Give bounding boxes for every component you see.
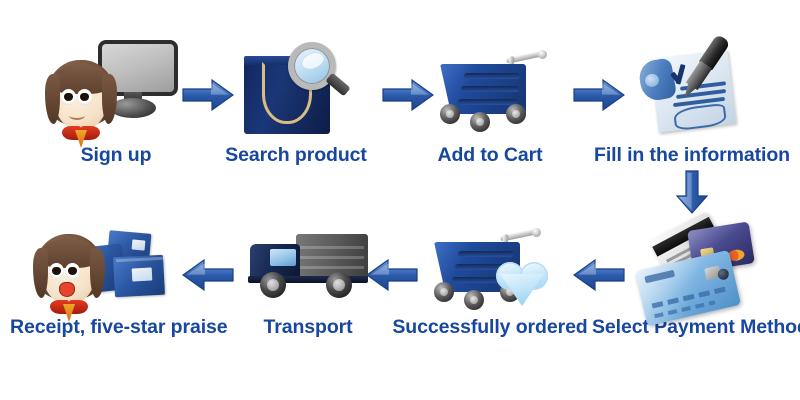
receipt-praise-artwork — [10, 218, 210, 318]
avatar-hair-right — [102, 74, 117, 124]
cargo-rib — [300, 266, 364, 269]
flow-step-label: Receipt, five-star praise — [10, 318, 210, 338]
flow-step-label: Fill in the information — [592, 146, 792, 166]
avatar-hair-left — [33, 248, 48, 298]
truck-window — [270, 249, 296, 266]
fill-information-artwork — [592, 28, 792, 146]
avatar-bow-icon — [50, 300, 88, 322]
avatar-eye-right — [65, 263, 80, 279]
flow-step-label: Sign up — [16, 146, 216, 166]
cart-slot — [461, 86, 519, 92]
parcel-label — [132, 239, 146, 250]
flow-step-label: Transport — [208, 318, 408, 338]
search-product-artwork — [196, 28, 396, 146]
credit-cards-icon — [634, 220, 752, 316]
avatar-eye-left — [61, 89, 76, 105]
avatar-bow-icon — [62, 126, 100, 148]
flow-step-transport[interactable]: Transport — [208, 218, 408, 338]
arrow-form-to-payment-icon — [675, 170, 709, 214]
form-with-pen-icon — [640, 36, 744, 136]
ecommerce-flow-diagram: Sign up — [0, 0, 800, 400]
cart-slot — [464, 73, 520, 79]
flow-step-label: Add to Cart — [390, 146, 590, 166]
flow-step-receipt-praise[interactable]: Receipt, five-star praise — [10, 218, 210, 338]
flow-step-search-product[interactable]: Search product — [196, 28, 396, 166]
shopping-bag-icon — [244, 42, 348, 134]
flow-step-successfully-ordered[interactable]: Successfully ordered — [390, 218, 590, 338]
magnifier-gloss — [300, 50, 326, 71]
parcel-label — [132, 267, 153, 281]
customer-avatar-icon — [32, 230, 106, 316]
avatar-open-mouth — [59, 282, 75, 297]
cart-wheel — [506, 104, 526, 124]
magnifier-handle — [325, 73, 350, 97]
cart-wheel — [440, 104, 460, 124]
flow-step-add-to-cart[interactable]: Add to Cart — [390, 28, 590, 166]
cart-handle-knob — [538, 50, 547, 59]
credit-card-blue — [635, 250, 741, 326]
cart-handle-knob — [532, 228, 541, 237]
flow-step-label: Successfully ordered — [390, 318, 590, 338]
heart-icon — [496, 262, 548, 308]
avatar-smile — [69, 111, 85, 120]
avatar-eye-right — [77, 89, 92, 105]
flow-step-fill-information[interactable]: Fill in the information — [592, 28, 792, 166]
user-avatar-icon — [44, 56, 118, 142]
truck-wheel — [260, 272, 286, 298]
avatar-hair-right — [90, 248, 105, 298]
avatar-eye-left — [49, 263, 64, 279]
cart-wheel — [470, 112, 490, 132]
cart-wheel — [434, 282, 454, 302]
heart-body — [500, 274, 544, 306]
cargo-rib — [300, 256, 364, 259]
form-roll — [637, 57, 677, 102]
cart-wheel — [464, 290, 484, 310]
shopping-cart-icon — [434, 42, 546, 134]
successfully-ordered-artwork — [390, 218, 590, 318]
flow-step-label: Search product — [196, 146, 396, 166]
delivery-truck-icon — [248, 226, 368, 306]
magnifier-icon — [288, 42, 350, 106]
avatar-hair-left — [45, 74, 60, 124]
flow-step-label: Select Payment Method — [592, 318, 792, 338]
add-to-cart-artwork — [390, 28, 590, 146]
truck-wheel — [326, 272, 352, 298]
cargo-rib — [300, 246, 364, 249]
transport-artwork — [208, 218, 408, 318]
cart-slot — [458, 99, 518, 105]
cart-slot — [458, 251, 514, 257]
